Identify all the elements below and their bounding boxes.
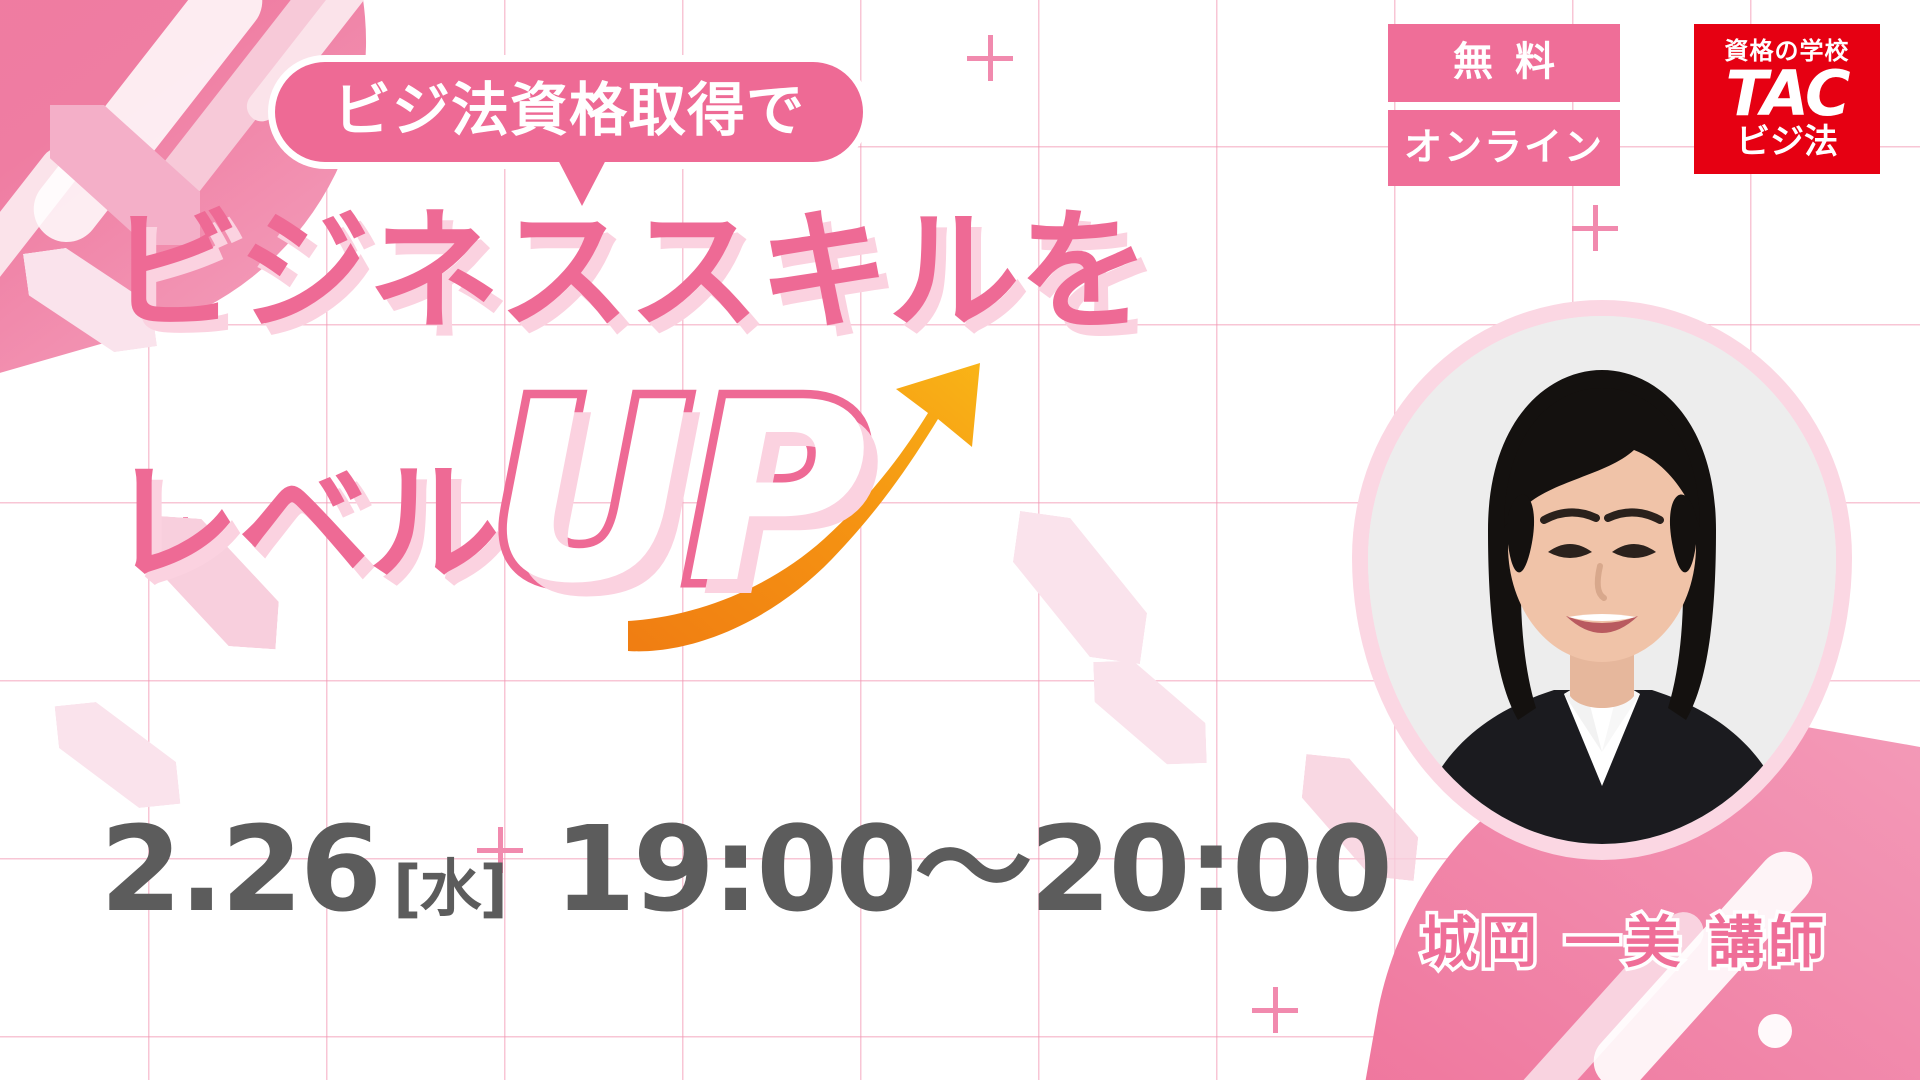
decorative-dot (1758, 1014, 1792, 1048)
headline-line-2: レベル (108, 458, 498, 590)
speech-bubble-text: ビジ法資格取得で (333, 81, 805, 139)
headline-emphasis-up: UP (490, 370, 861, 618)
headline-block: ビジネススキルを レベル (108, 206, 1188, 338)
schedule-block: 2.26 [水] 19:00〜20:00 (100, 810, 1390, 928)
chevron-decoration (1093, 658, 1207, 767)
speech-bubble: ビジ法資格取得で (275, 62, 863, 162)
instructor-portrait (1352, 300, 1852, 860)
schedule-date: 2.26 (100, 810, 379, 928)
badge-online: オンライン (1388, 110, 1620, 186)
tac-logo: 資格の学校 TAC ビジ法 (1694, 24, 1880, 174)
badge-group: 無料 オンライン (1388, 24, 1620, 186)
logo-brand: TAC (1725, 65, 1848, 124)
instructor-name: 城岡 一美 講師 (1421, 916, 1828, 972)
badge-free: 無料 (1388, 24, 1620, 102)
banner-canvas: ビジ法資格取得で ビジネススキルを レベル UP 2.26 [水] 19:00〜… (0, 0, 1920, 1080)
schedule-day-of-week: [水] (393, 858, 506, 920)
chevron-decoration (55, 694, 181, 815)
headline-line-1: ビジネススキルを (108, 206, 1188, 338)
logo-course: ビジ法 (1736, 125, 1838, 159)
schedule-time: 19:00〜20:00 (554, 810, 1390, 928)
